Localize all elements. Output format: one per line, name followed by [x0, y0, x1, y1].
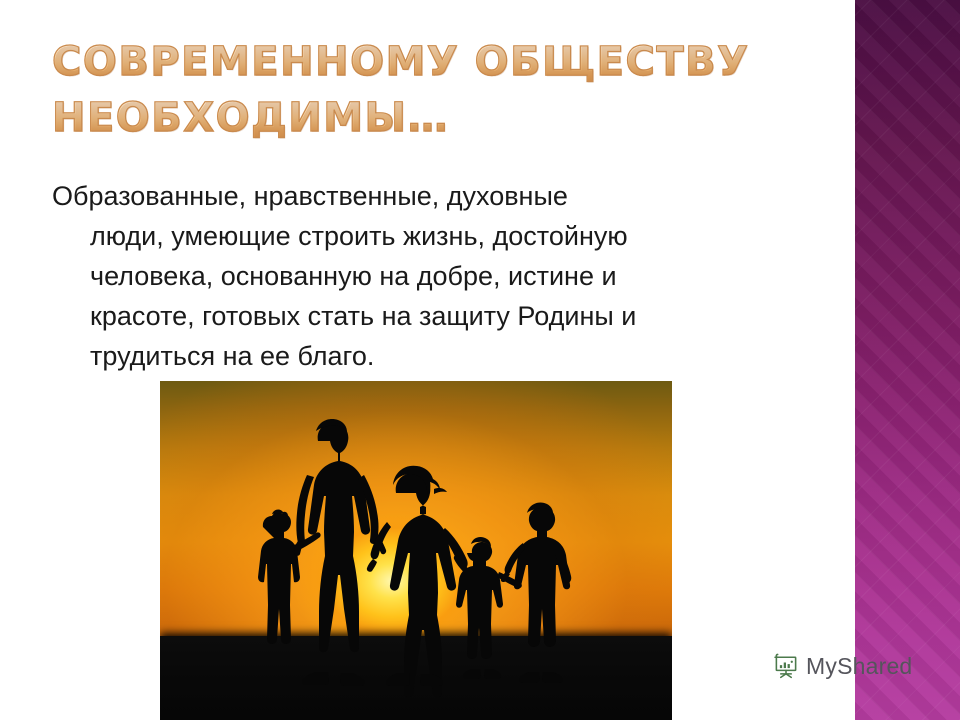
side-bar-diamond-pattern [855, 0, 960, 720]
body-line-4: красоте, готовых стать на защиту Родины … [52, 296, 812, 336]
silhouette-child-right [501, 502, 571, 683]
body-paragraph: Образованные, нравственные, духовные люд… [52, 176, 812, 376]
family-silhouettes [160, 381, 672, 720]
body-line-2: люди, умеющие строить жизнь, достойную [52, 216, 812, 256]
page-title: СОВРЕМЕННОМУ ОБЩЕСТВУ НЕОБХОДИМЫ… [52, 36, 752, 144]
myshared-watermark: MyShared [772, 652, 912, 680]
watermark-my: My [806, 653, 837, 679]
body-line-3: человека, основанную на добре, истине и [52, 256, 812, 296]
body-line-5: трудиться на ее благо. [52, 336, 812, 376]
title-line-2: НЕОБХОДИМЫ… [52, 92, 752, 144]
body-paragraph-text: Образованные, нравственные, духовные люд… [52, 176, 812, 376]
slide-canvas: СОВРЕМЕННОМУ ОБЩЕСТВУ НЕОБХОДИМЫ… Образо… [0, 0, 960, 720]
watermark-shared: Shared [837, 653, 912, 679]
presentation-chart-icon [772, 652, 800, 680]
watermark-label: MyShared [806, 653, 912, 680]
title-line-1: СОВРЕМЕННОМУ ОБЩЕСТВУ [52, 36, 752, 88]
family-sunset-photo [160, 381, 672, 720]
body-line-1: Образованные, нравственные, духовные [52, 176, 812, 216]
side-decoration-bar [855, 0, 960, 720]
